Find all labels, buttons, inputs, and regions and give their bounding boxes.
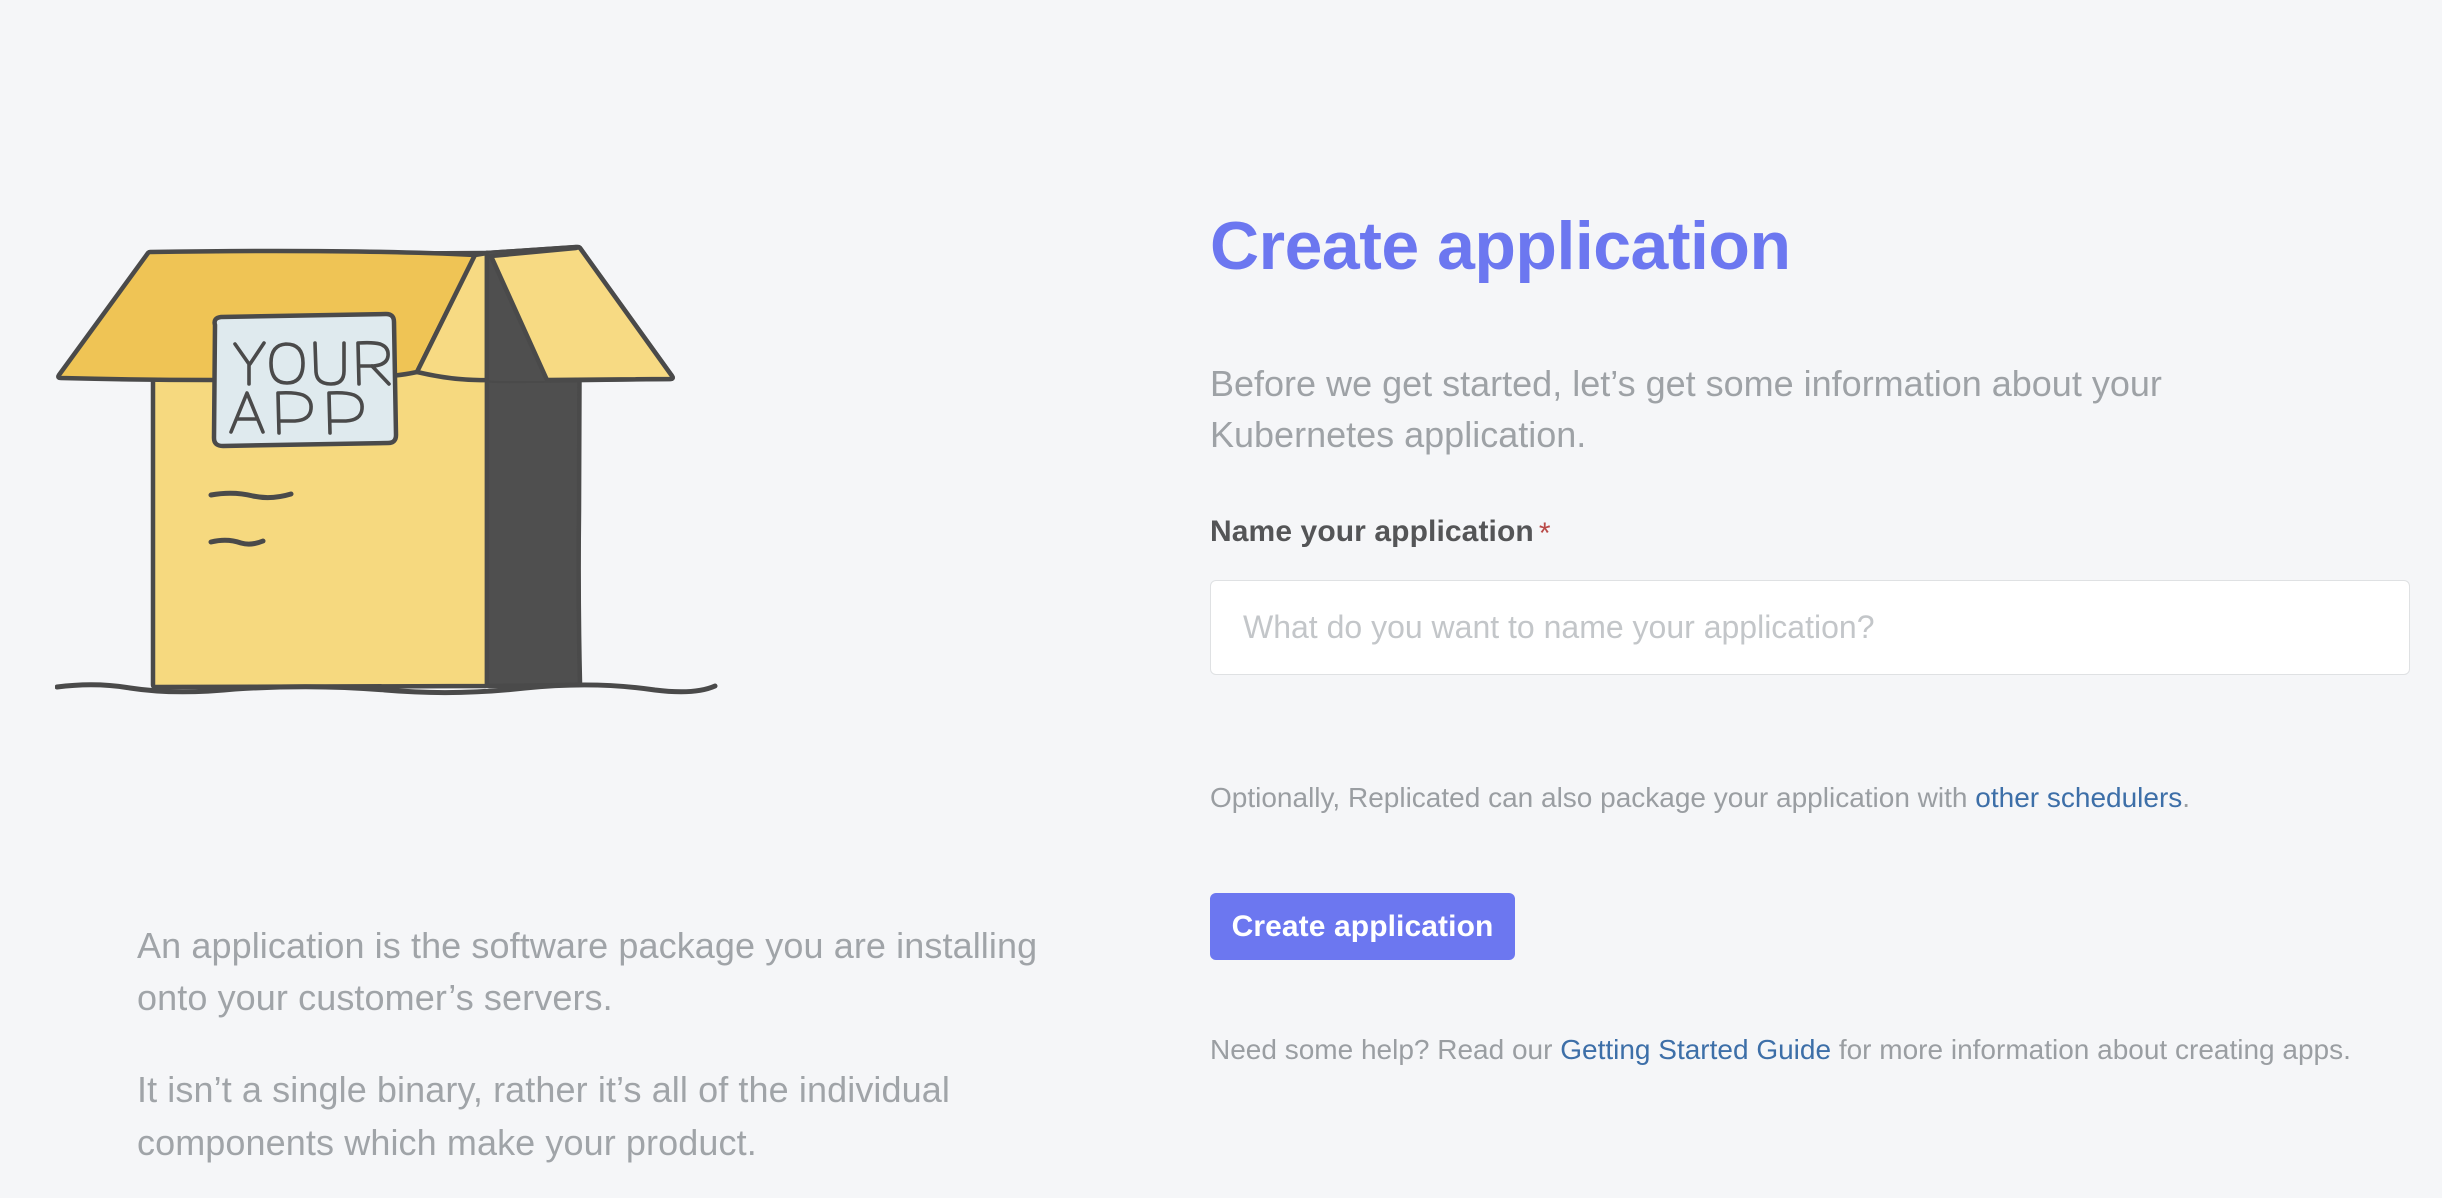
intro-text: Before we get started, let’s get some in…: [1210, 358, 2340, 460]
left-description: An application is the software package y…: [137, 920, 1057, 1169]
cardboard-box-svg: [55, 150, 1075, 750]
name-field-label-text: Name your application: [1210, 515, 1534, 548]
optional-note-suffix: .: [2182, 782, 2190, 813]
help-note: Need some help? Read our Getting Started…: [1210, 1030, 2410, 1071]
required-asterisk: *: [1539, 517, 1551, 550]
other-schedulers-link[interactable]: other schedulers: [1975, 782, 2182, 813]
left-paragraph-2: It isn’t a single binary, rather it’s al…: [137, 1064, 1057, 1168]
left-paragraph-1: An application is the software package y…: [137, 920, 1057, 1024]
optional-schedulers-note: Optionally, Replicated can also package …: [1210, 778, 2410, 817]
form-column: Create application Before we get started…: [1210, 0, 2420, 1198]
name-field-label: Name your application*: [1210, 515, 1551, 549]
application-name-input[interactable]: [1210, 580, 2410, 675]
optional-note-prefix: Optionally, Replicated can also package …: [1210, 782, 1975, 813]
create-application-button[interactable]: Create application: [1210, 893, 1515, 960]
help-note-prefix: Need some help? Read our: [1210, 1034, 1560, 1065]
left-column: An application is the software package y…: [55, 150, 1075, 750]
help-note-suffix: for more information about creating apps…: [1831, 1034, 2351, 1065]
box-label-plaque: [214, 314, 396, 446]
getting-started-guide-link[interactable]: Getting Started Guide: [1560, 1034, 1831, 1065]
page-title: Create application: [1210, 212, 1791, 280]
create-application-page: An application is the software package y…: [0, 0, 2442, 1198]
cardboard-box-illustration: [55, 150, 1075, 750]
